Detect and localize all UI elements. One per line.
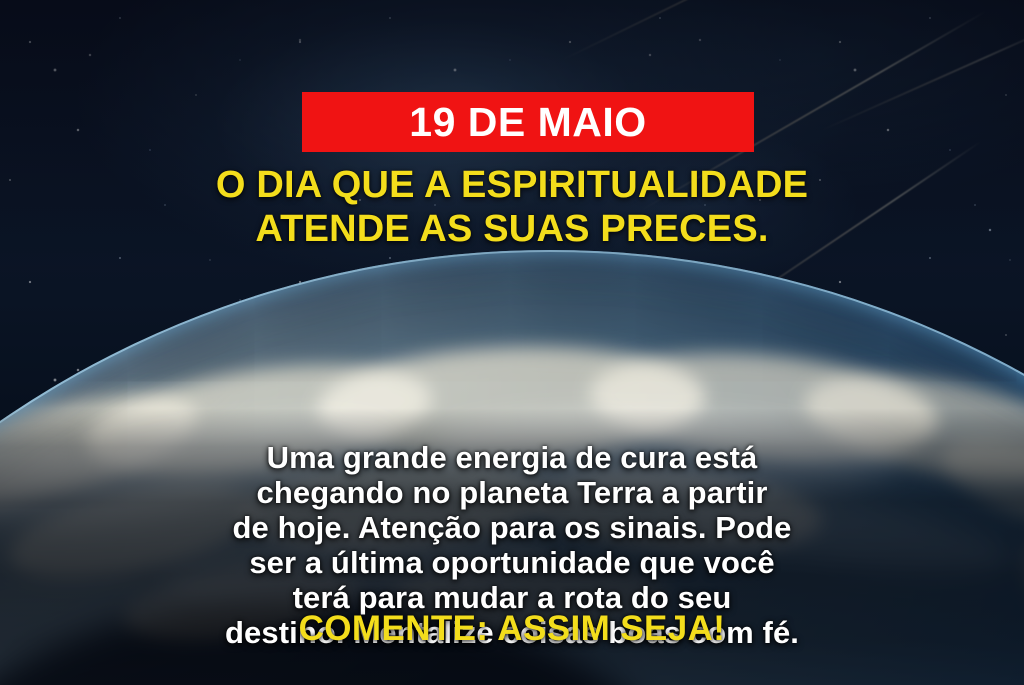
body-line-1: Uma grande energia de cura está [52, 440, 972, 475]
call-to-action-text: COMENTE: ASSIM SEJA! [0, 611, 1024, 646]
headline-line-2: ATENDE AS SUAS PRECES. [40, 207, 984, 251]
poster-canvas: 19 DE MAIO O DIA QUE A ESPIRITUALIDADE A… [0, 0, 1024, 685]
body-line-2: chegando no planeta Terra a partir [52, 475, 972, 510]
body-line-4: ser a última oportunidade que você [52, 545, 972, 580]
headline: O DIA QUE A ESPIRITUALIDADE ATENDE AS SU… [0, 163, 1024, 251]
date-banner-label: 19 DE MAIO [409, 102, 646, 143]
date-banner: 19 DE MAIO [302, 92, 754, 152]
headline-line-1: O DIA QUE A ESPIRITUALIDADE [40, 163, 984, 207]
body-line-3: de hoje. Atenção para os sinais. Pode [52, 510, 972, 545]
poster-content: 19 DE MAIO O DIA QUE A ESPIRITUALIDADE A… [0, 0, 1024, 685]
